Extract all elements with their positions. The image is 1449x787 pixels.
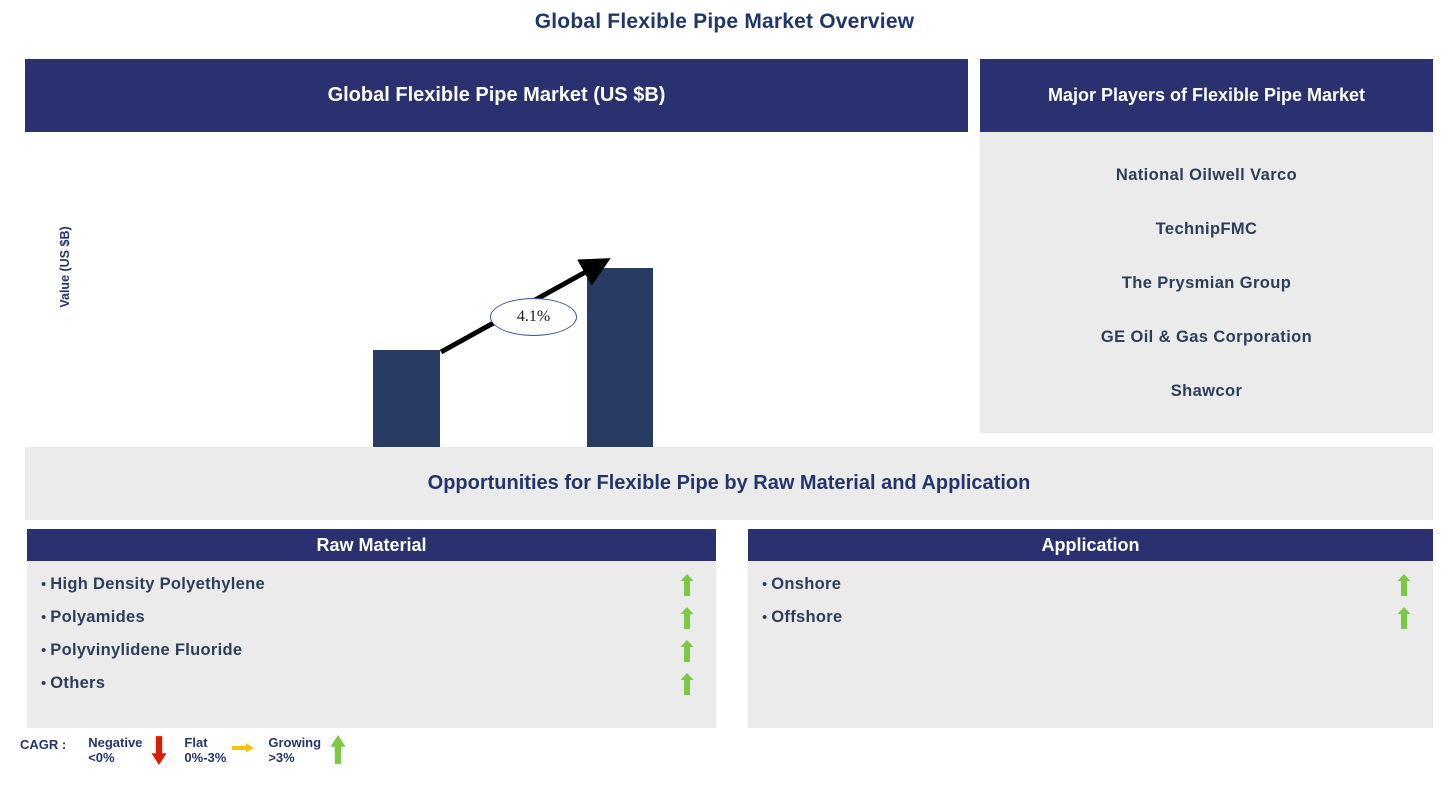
list-item-label: Polyamides: [50, 608, 680, 627]
application-list: • Onshore • Offshore: [748, 561, 1433, 634]
arrow-up-green-icon: [680, 673, 694, 695]
bullet-icon: •: [762, 576, 767, 593]
bullet-icon: •: [41, 609, 46, 626]
list-item: • Polyvinylidene Fluoride: [27, 634, 716, 667]
chart-bar-2031: [587, 268, 653, 472]
application-header: Application: [748, 529, 1433, 561]
list-item-label: Polyvinylidene Fluoride: [50, 641, 680, 660]
legend-range: <0%: [88, 750, 142, 765]
page-title: Global Flexible Pipe Market Overview: [0, 10, 1449, 34]
list-item-label: Onshore: [771, 575, 1397, 594]
arrow-up-green-icon: [680, 607, 694, 629]
arrow-up-green-icon: [1397, 607, 1411, 629]
cagr-legend: CAGR : Negative <0% Flat 0%-3% Growing >…: [20, 735, 363, 765]
arrow-down-red-icon: [148, 735, 170, 765]
list-item: • Polyamides: [27, 601, 716, 634]
arrow-up-green-icon: [1397, 574, 1411, 596]
chart-y-axis-label: Value (US $B): [58, 197, 72, 337]
list-item: The Prysmian Group: [980, 256, 1433, 310]
cagr-legend-item-growing: Growing >3%: [268, 735, 355, 765]
chart-header-title: Global Flexible Pipe Market (US $B): [25, 59, 968, 132]
arrow-right-yellow-icon: [232, 735, 254, 765]
list-item: National Oilwell Varco: [980, 148, 1433, 202]
bullet-icon: •: [41, 642, 46, 659]
legend-label: Flat: [184, 735, 226, 750]
cagr-legend-item-flat: Flat 0%-3%: [184, 735, 260, 765]
chart-plot-area: Value (US $B) 2024 2031 4.1% Source : Lu…: [25, 132, 968, 433]
list-item: • Onshore: [748, 568, 1433, 601]
cagr-legend-title: CAGR :: [20, 735, 66, 752]
raw-material-list: • High Density Polyethylene • Polyamides…: [27, 561, 716, 700]
legend-label: Negative: [88, 735, 142, 750]
raw-material-header: Raw Material: [27, 529, 716, 561]
list-item-label: Others: [50, 674, 680, 693]
growth-arrow-icon: [25, 132, 968, 433]
list-item: Shawcor: [980, 364, 1433, 418]
cagr-legend-item-negative: Negative <0%: [88, 735, 176, 765]
legend-label: Growing: [268, 735, 321, 750]
bullet-icon: •: [41, 576, 46, 593]
opportunities-banner: Opportunities for Flexible Pipe by Raw M…: [25, 447, 1433, 520]
list-item: • High Density Polyethylene: [27, 568, 716, 601]
legend-range: >3%: [268, 750, 321, 765]
list-item: TechnipFMC: [980, 202, 1433, 256]
arrow-up-green-icon: [680, 574, 694, 596]
bullet-icon: •: [762, 609, 767, 626]
application-panel: Application • Onshore • Offshore: [748, 529, 1433, 728]
list-item: • Offshore: [748, 601, 1433, 634]
major-players-header: Major Players of Flexible Pipe Market: [980, 59, 1433, 132]
list-item: • Others: [27, 667, 716, 700]
arrow-up-green-icon: [680, 640, 694, 662]
legend-range: 0%-3%: [184, 750, 226, 765]
list-item: GE Oil & Gas Corporation: [980, 310, 1433, 364]
major-players-list: National Oilwell Varco TechnipFMC The Pr…: [980, 132, 1433, 418]
major-players-card: Major Players of Flexible Pipe Market Na…: [980, 59, 1433, 433]
market-chart-card: Global Flexible Pipe Market (US $B) Valu…: [25, 59, 968, 433]
cagr-callout: 4.1%: [490, 298, 577, 336]
list-item-label: High Density Polyethylene: [50, 575, 680, 594]
raw-material-panel: Raw Material • High Density Polyethylene…: [27, 529, 716, 728]
bullet-icon: •: [41, 675, 46, 692]
list-item-label: Offshore: [771, 608, 1397, 627]
arrow-up-green-icon: [327, 735, 349, 765]
